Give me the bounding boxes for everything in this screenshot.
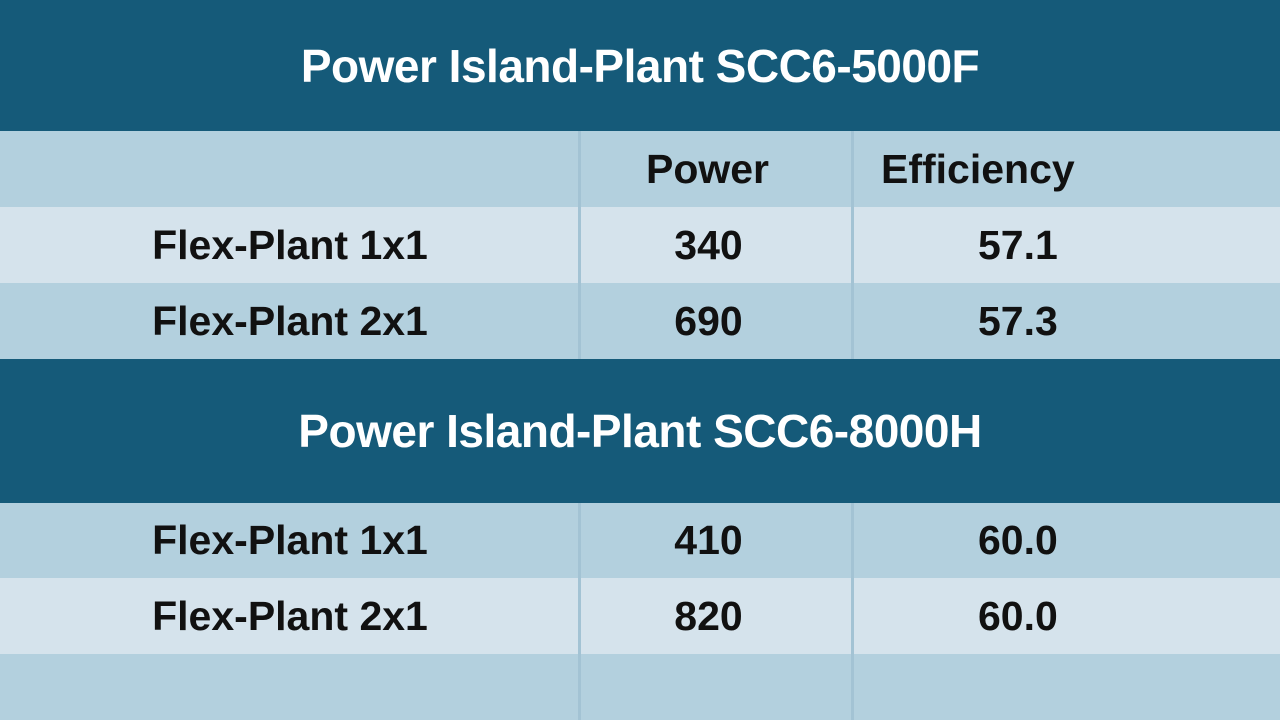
header-cell-efficiency: Efficiency (853, 131, 1280, 207)
section-title-band-1: Power Island-Plant SCC6-5000F (0, 0, 1280, 131)
row-efficiency-flex-plant-1x1-8000h: 60.0 (853, 503, 1280, 578)
row-power-flex-plant-1x1-8000h: 410 (580, 503, 853, 578)
row-efficiency-flex-plant-1x1-5000f: 57.1 (853, 207, 1280, 283)
power-island-table-figure: Power Island-Plant SCC6-5000F Power Effi… (0, 0, 1280, 720)
header-cell-power: Power (580, 131, 853, 207)
table-row: Flex-Plant 1x1 410 60.0 (0, 503, 1280, 578)
section-title-scc6-8000h: Power Island-Plant SCC6-8000H (298, 408, 981, 454)
table-row-empty (0, 654, 1280, 720)
row-efficiency-flex-plant-2x1-5000f: 57.3 (853, 283, 1280, 359)
row-power-flex-plant-2x1-8000h: 820 (580, 578, 853, 654)
row-label-flex-plant-2x1-8000h: Flex-Plant 2x1 (0, 578, 580, 654)
table-header-row: Power Efficiency (0, 131, 1280, 207)
row-label-empty (0, 654, 580, 720)
section-title-band-2: Power Island-Plant SCC6-8000H (0, 359, 1280, 503)
row-label-flex-plant-2x1-5000f: Flex-Plant 2x1 (0, 283, 580, 359)
table-row: Flex-Plant 2x1 820 60.0 (0, 578, 1280, 654)
table-row: Flex-Plant 1x1 340 57.1 (0, 207, 1280, 283)
table-row: Flex-Plant 2x1 690 57.3 (0, 283, 1280, 359)
row-label-flex-plant-1x1-5000f: Flex-Plant 1x1 (0, 207, 580, 283)
row-efficiency-flex-plant-2x1-8000h: 60.0 (853, 578, 1280, 654)
row-power-flex-plant-1x1-5000f: 340 (580, 207, 853, 283)
section-title-scc6-5000f: Power Island-Plant SCC6-5000F (301, 43, 979, 89)
header-cell-blank (0, 131, 580, 207)
row-label-flex-plant-1x1-8000h: Flex-Plant 1x1 (0, 503, 580, 578)
row-power-empty (580, 654, 853, 720)
row-efficiency-empty (853, 654, 1280, 720)
row-power-flex-plant-2x1-5000f: 690 (580, 283, 853, 359)
